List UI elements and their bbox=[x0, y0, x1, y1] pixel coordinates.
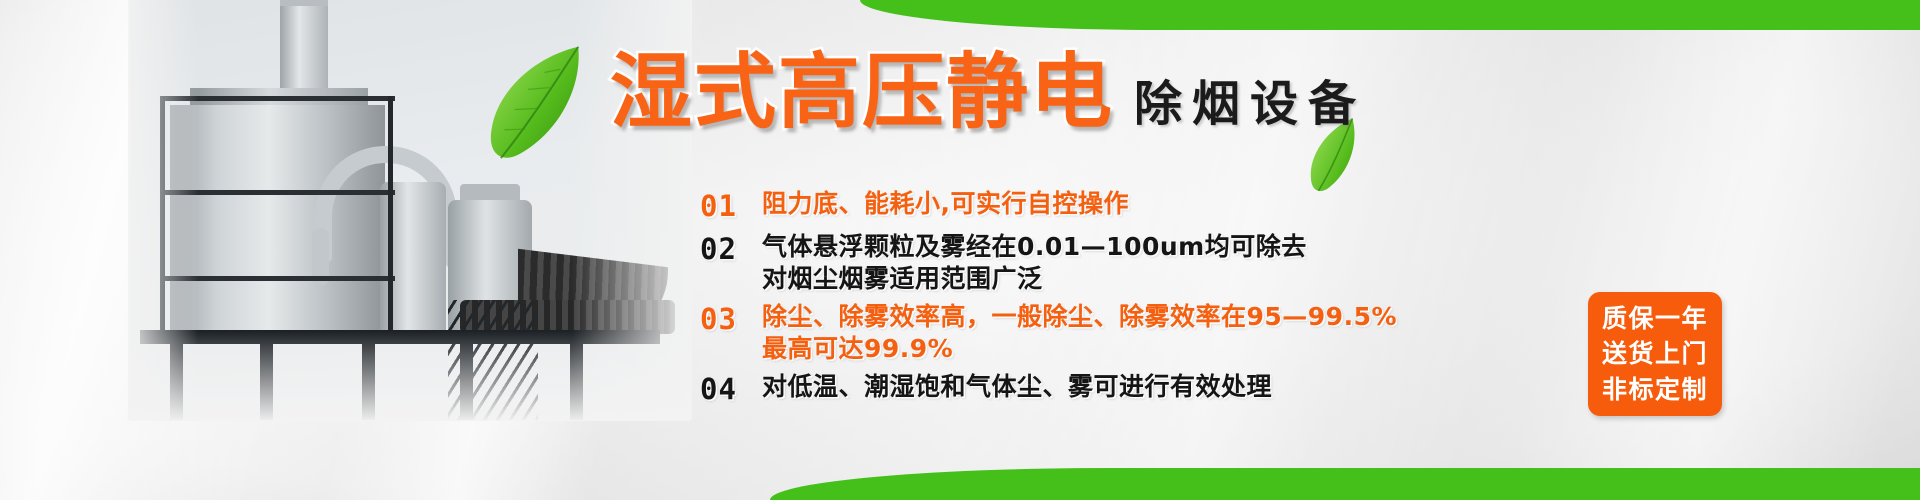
feature-list: 01 阻力底、能耗小,可实行自控操作 02 气体悬浮颗粒及雾经在0.01—100… bbox=[700, 188, 1600, 414]
feature-number: 01 bbox=[700, 188, 762, 225]
promo-badge-line: 非标定制 bbox=[1602, 372, 1708, 408]
feature-text: 气体悬浮颗粒及雾经在0.01—100um均可除去 bbox=[762, 231, 1307, 263]
feature-item: 04 对低温、潮湿饱和气体尘、雾可进行有效处理 bbox=[700, 371, 1600, 408]
plant-photo bbox=[130, 0, 690, 420]
page-title: 湿式高压静电 bbox=[610, 52, 1114, 134]
feature-item: 02 气体悬浮颗粒及雾经在0.01—100um均可除去 对烟尘烟雾适用范围广泛 bbox=[700, 231, 1600, 295]
feature-number: 03 bbox=[700, 301, 762, 338]
feature-text: 阻力底、能耗小,可实行自控操作 bbox=[762, 188, 1129, 220]
green-accent-bar-top bbox=[860, 0, 1920, 30]
feature-text: 除尘、除雾效率高，一般除尘、除雾效率在95—99.5% bbox=[762, 301, 1397, 333]
feature-number: 04 bbox=[700, 371, 762, 408]
headline: 湿式高压静电 除烟设备 bbox=[610, 52, 1366, 134]
photo-chimney-cap bbox=[280, 0, 328, 6]
photo-frame-post bbox=[388, 96, 393, 336]
promo-badge[interactable]: 质保一年 送货上门 非标定制 bbox=[1588, 292, 1722, 416]
feature-number: 02 bbox=[700, 231, 762, 268]
promo-badge-line: 送货上门 bbox=[1602, 336, 1708, 372]
page-subtitle: 除烟设备 bbox=[1134, 80, 1366, 134]
promo-banner: 湿式高压静电 除烟设备 01 阻力底、能耗小,可实行自控操作 02 气体悬浮颗粒… bbox=[0, 0, 1920, 500]
promo-badge-line: 质保一年 bbox=[1602, 301, 1708, 337]
feature-item: 03 除尘、除雾效率高，一般除尘、除雾效率在95—99.5% 最高可达99.9% bbox=[700, 301, 1600, 365]
feature-text: 最高可达99.9% bbox=[762, 333, 1397, 365]
feature-text: 对烟尘烟雾适用范围广泛 bbox=[762, 263, 1307, 295]
feature-text: 对低温、潮湿饱和气体尘、雾可进行有效处理 bbox=[762, 371, 1272, 403]
photo-edge-fade bbox=[130, 331, 690, 421]
green-accent-bar-bottom bbox=[770, 468, 1920, 500]
feature-item: 01 阻力底、能耗小,可实行自控操作 bbox=[700, 188, 1600, 225]
